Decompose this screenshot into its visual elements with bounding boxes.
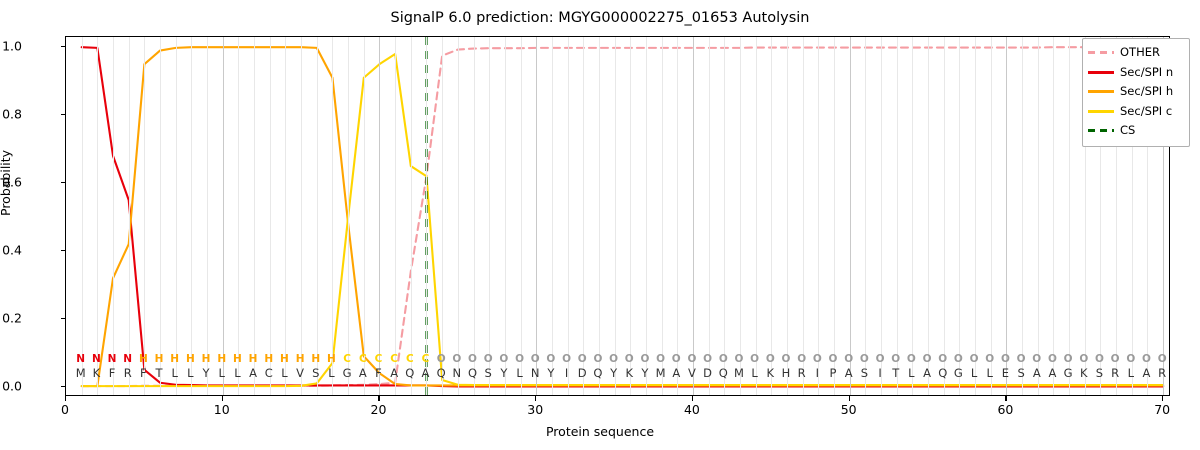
x-tick-label: 20 [371, 402, 387, 417]
residue-letter: K [625, 366, 633, 380]
residue-annotation: O [1095, 353, 1104, 365]
residue-annotation: O [829, 353, 838, 365]
gridline [348, 37, 349, 395]
residue-letter: A [422, 366, 430, 380]
x-tick [535, 396, 536, 401]
gridline [270, 37, 271, 395]
residue-annotation: O [484, 353, 493, 365]
residue-letter: L [751, 366, 757, 380]
gridline [301, 37, 302, 395]
residue-annotation: O [923, 353, 932, 365]
residue-letter: L [281, 366, 287, 380]
gridline [207, 37, 208, 395]
residue-letter: S [1017, 366, 1024, 380]
y-tick [61, 250, 66, 251]
residue-letter: C [265, 366, 273, 380]
residue-letter: A [1143, 366, 1151, 380]
gridline [97, 37, 98, 395]
residue-letter: K [1080, 366, 1088, 380]
residue-letter: Q [719, 366, 728, 380]
residue-annotation: O [1079, 353, 1088, 365]
residue-letter: R [124, 366, 132, 380]
residue-letter: K [767, 366, 775, 380]
residue-annotation: N [108, 353, 117, 365]
residue-annotation: O [735, 353, 744, 365]
y-tick [61, 182, 66, 183]
gridline [756, 37, 757, 395]
residue-letter: M [656, 366, 666, 380]
legend-label: Sec/SPI n [1120, 67, 1173, 79]
residue-letter: A [249, 366, 257, 380]
residue-letter: F [109, 366, 116, 380]
residue-letter: A [390, 366, 398, 380]
residue-letter: S [485, 366, 492, 380]
residue-annotation: O [640, 353, 649, 365]
x-tick [1005, 396, 1006, 401]
residue-letter: I [878, 366, 881, 380]
legend-item-sec-spi-h[interactable]: Sec/SPI h [1088, 82, 1184, 102]
residue-letter: I [816, 366, 819, 380]
residue-annotation: O [687, 353, 696, 365]
residue-annotation: O [891, 353, 900, 365]
gridline [536, 37, 537, 395]
residue-letter: L [328, 366, 334, 380]
gridline [1006, 37, 1007, 395]
y-tick-label: 0.2 [2, 310, 22, 325]
residue-annotation: H [170, 353, 179, 365]
x-tick-label: 40 [684, 402, 700, 417]
residue-annotation: N [123, 353, 132, 365]
gridline [740, 37, 741, 395]
residue-annotation: O [907, 353, 916, 365]
y-tick-label: 0.8 [2, 107, 22, 122]
gridline [944, 37, 945, 395]
y-axis-title: Probability [0, 150, 13, 216]
residue-annotation: O [672, 353, 681, 365]
x-tick [1162, 396, 1163, 401]
gridline [850, 37, 851, 395]
legend-item-other[interactable]: OTHER [1088, 43, 1184, 63]
gridline [379, 37, 380, 395]
residue-annotation: O [954, 353, 963, 365]
gridline [254, 37, 255, 395]
series-sec-spi-n [82, 47, 1163, 386]
x-tick-label: 70 [1154, 402, 1170, 417]
residue-annotation: O [1111, 353, 1120, 365]
residue-annotation: H [311, 353, 320, 365]
gridline [426, 37, 427, 395]
residue-letter: L [187, 366, 193, 380]
gridline [897, 37, 898, 395]
residue-annotation: H [202, 353, 211, 365]
residue-annotation: O [766, 353, 775, 365]
residue-letter: M [734, 366, 744, 380]
signalp-prediction-figure: SignalP 6.0 prediction: MGYG000002275_01… [0, 0, 1200, 450]
x-tick-label: 60 [997, 402, 1013, 417]
gridline [505, 37, 506, 395]
residue-letter: M [76, 366, 86, 380]
residue-annotation: H [327, 353, 336, 365]
gridline [865, 37, 866, 395]
series-other [82, 47, 1163, 386]
residue-annotation: H [186, 353, 195, 365]
residue-letter: V [296, 366, 304, 380]
residue-annotation: O [1142, 353, 1151, 365]
residue-letter: A [359, 366, 367, 380]
residue-annotation: H [139, 353, 148, 365]
legend-label: CS [1120, 125, 1135, 137]
residue-annotation: C [390, 353, 398, 365]
y-tick-label: 0.4 [2, 242, 22, 257]
residue-letter: L [1128, 366, 1134, 380]
gridline [975, 37, 976, 395]
gridline [238, 37, 239, 395]
gridline [693, 37, 694, 395]
residue-annotation: O [609, 353, 618, 365]
gridline [113, 37, 114, 395]
residue-annotation: O [750, 353, 759, 365]
residue-letter: F [375, 366, 382, 380]
residue-annotation: O [468, 353, 477, 365]
residue-annotation: O [499, 353, 508, 365]
legend-label: Sec/SPI h [1120, 86, 1173, 98]
residue-annotation: O [656, 353, 665, 365]
gridline [928, 37, 929, 395]
gridline [160, 37, 161, 395]
x-tick [692, 396, 693, 401]
plot-clip [66, 37, 1169, 395]
gridline [771, 37, 772, 395]
residue-letter: Y [641, 366, 648, 380]
y-tick [61, 386, 66, 387]
residue-letter: S [1096, 366, 1103, 380]
gridline [332, 37, 333, 395]
residue-annotation: O [1158, 353, 1167, 365]
residue-annotation: O [797, 353, 806, 365]
residue-letter: L [516, 366, 522, 380]
gridline [1053, 37, 1054, 395]
x-tick-label: 10 [214, 402, 230, 417]
residue-letter: K [93, 366, 101, 380]
residue-annotation: O [531, 353, 540, 365]
residue-letter: Q [405, 366, 414, 380]
residue-letter: L [908, 366, 914, 380]
residue-letter: Q [468, 366, 477, 380]
y-tick-label: 0.0 [2, 378, 22, 393]
residue-letter: R [1158, 366, 1166, 380]
gridline [834, 37, 835, 395]
residue-annotation: O [625, 353, 634, 365]
y-tick [61, 46, 66, 47]
residue-annotation: H [155, 353, 164, 365]
gridline [474, 37, 475, 395]
residue-letter: Y [610, 366, 617, 380]
x-tick [849, 396, 850, 401]
page-title: SignalP 6.0 prediction: MGYG000002275_01… [0, 10, 1200, 26]
gridline [442, 37, 443, 395]
legend-item-sec-spi-c[interactable]: Sec/SPI c [1088, 102, 1184, 122]
gridline [395, 37, 396, 395]
residue-letter: I [565, 366, 568, 380]
gridline [82, 37, 83, 395]
residue-letter: R [1111, 366, 1119, 380]
gridline [818, 37, 819, 395]
x-tick-label: 0 [61, 402, 69, 417]
residue-annotation: O [938, 353, 947, 365]
residue-letter: A [672, 366, 680, 380]
residue-letter: L [219, 366, 225, 380]
residue-annotation: C [422, 353, 430, 365]
series-sec-spi-c [82, 54, 1163, 386]
residue-letter: H [782, 366, 791, 380]
residue-annotation: O [515, 353, 524, 365]
residue-letter: Y [203, 366, 210, 380]
gridline [1022, 37, 1023, 395]
residue-annotation: O [813, 353, 822, 365]
series-sec-spi-h [82, 47, 1163, 386]
residue-letter: Q [437, 366, 446, 380]
residue-letter: T [892, 366, 899, 380]
residue-annotation: H [264, 353, 273, 365]
gridline [709, 37, 710, 395]
residue-letter: D [703, 366, 712, 380]
residue-letter: Y [547, 366, 554, 380]
legend: OTHERSec/SPI nSec/SPI hSec/SPI cCS [1082, 38, 1190, 147]
series-lines [66, 37, 1169, 395]
gridline [662, 37, 663, 395]
residue-annotation: O [1064, 353, 1073, 365]
gridline [599, 37, 600, 395]
residue-annotation: O [562, 353, 571, 365]
residue-annotation: O [593, 353, 602, 365]
gridline [881, 37, 882, 395]
residue-annotation: O [970, 353, 979, 365]
gridline [144, 37, 145, 395]
gridline [521, 37, 522, 395]
residue-letter: N [531, 366, 540, 380]
residue-letter: G [954, 366, 963, 380]
residue-annotation: C [375, 353, 383, 365]
gridline [411, 37, 412, 395]
x-tick-label: 30 [527, 402, 543, 417]
y-tick [61, 318, 66, 319]
residue-letter: D [578, 366, 587, 380]
residue-annotation: H [233, 353, 242, 365]
residue-annotation: H [280, 353, 289, 365]
gridline [489, 37, 490, 395]
gridline [191, 37, 192, 395]
residue-annotation: H [249, 353, 258, 365]
gridline [364, 37, 365, 395]
gridline [724, 37, 725, 395]
residue-letter: Q [938, 366, 947, 380]
y-tick [61, 114, 66, 115]
residue-letter: A [1049, 366, 1057, 380]
gridline [630, 37, 631, 395]
x-tick-label: 50 [841, 402, 857, 417]
plot-area [65, 36, 1170, 396]
residue-letter: T [156, 366, 163, 380]
y-tick-label: 1.0 [2, 39, 22, 54]
residue-annotation: H [296, 353, 305, 365]
gridline [803, 37, 804, 395]
gridline [787, 37, 788, 395]
residue-letter: L [987, 366, 993, 380]
residue-letter: G [1064, 366, 1073, 380]
residue-annotation: O [1017, 353, 1026, 365]
residue-letter: S [312, 366, 319, 380]
residue-annotation: H [217, 353, 226, 365]
gridline [1069, 37, 1070, 395]
gridline [583, 37, 584, 395]
residue-letter: L [971, 366, 977, 380]
residue-letter: A [923, 366, 931, 380]
residue-letter: G [343, 366, 352, 380]
residue-annotation: O [876, 353, 885, 365]
gridline [285, 37, 286, 395]
gridline [317, 37, 318, 395]
residue-annotation: O [985, 353, 994, 365]
gridline [959, 37, 960, 395]
gridline [912, 37, 913, 395]
gridline [129, 37, 130, 395]
residue-annotation: O [703, 353, 712, 365]
gridline [458, 37, 459, 395]
residue-annotation: O [782, 353, 791, 365]
gridline [568, 37, 569, 395]
residue-letter: P [830, 366, 837, 380]
residue-annotation: O [719, 353, 728, 365]
residue-annotation: O [1048, 353, 1057, 365]
legend-label: Sec/SPI c [1120, 106, 1172, 118]
gridline [677, 37, 678, 395]
residue-annotation: O [452, 353, 461, 365]
residue-letter: E [1002, 366, 1009, 380]
x-axis-title: Protein sequence [0, 424, 1200, 439]
legend-label: OTHER [1120, 47, 1160, 59]
residue-letter: A [1033, 366, 1041, 380]
residue-letter: V [688, 366, 696, 380]
residue-annotation: O [578, 353, 587, 365]
residue-annotation: O [437, 353, 446, 365]
residue-annotation: O [844, 353, 853, 365]
residue-letter: L [171, 366, 177, 380]
residue-annotation: O [546, 353, 555, 365]
residue-letter: A [845, 366, 853, 380]
residue-letter: R [798, 366, 806, 380]
residue-annotation: C [359, 353, 367, 365]
x-tick [65, 396, 66, 401]
residue-annotation: C [406, 353, 414, 365]
residue-annotation: O [1001, 353, 1010, 365]
residue-annotation: O [1032, 353, 1041, 365]
residue-annotation: O [1126, 353, 1135, 365]
legend-item-sec-spi-n[interactable]: Sec/SPI n [1088, 63, 1184, 83]
gridline [223, 37, 224, 395]
legend-item-cs[interactable]: CS [1088, 121, 1184, 141]
gridline [991, 37, 992, 395]
x-tick [378, 396, 379, 401]
gridline [1038, 37, 1039, 395]
residue-letter: Y [500, 366, 507, 380]
gridline [176, 37, 177, 395]
x-tick [222, 396, 223, 401]
residue-letter: L [234, 366, 240, 380]
gridline [646, 37, 647, 395]
residue-letter: Q [593, 366, 602, 380]
residue-annotation: N [92, 353, 101, 365]
residue-letter: S [861, 366, 868, 380]
residue-annotation: N [76, 353, 85, 365]
residue-annotation: O [860, 353, 869, 365]
residue-letter: N [453, 366, 462, 380]
gridline [615, 37, 616, 395]
residue-letter: F [140, 366, 147, 380]
gridline [552, 37, 553, 395]
residue-annotation: C [343, 353, 351, 365]
